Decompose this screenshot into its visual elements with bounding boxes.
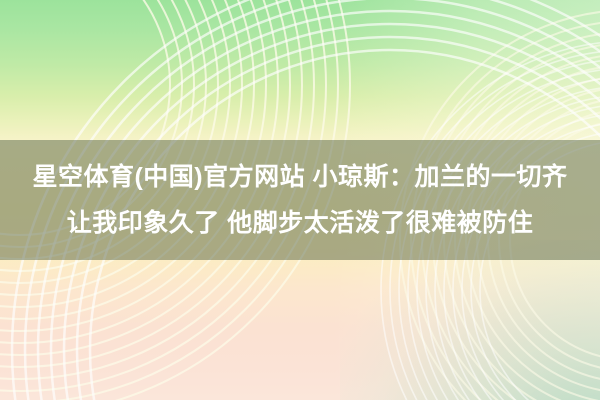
background-corner-tint	[340, 240, 600, 400]
headline-line-1: 星空体育(中国)官方网站 小琼斯：加兰的一切齐	[32, 154, 567, 200]
headline-band: 星空体育(中国)官方网站 小琼斯：加兰的一切齐 让我印象久了 他脚步太活泼了很难…	[0, 140, 600, 260]
promo-banner: 星空体育(中国)官方网站 小琼斯：加兰的一切齐 让我印象久了 他脚步太活泼了很难…	[0, 0, 600, 400]
headline-line-2: 让我印象久了 他脚步太活泼了很难被防住	[67, 200, 533, 246]
